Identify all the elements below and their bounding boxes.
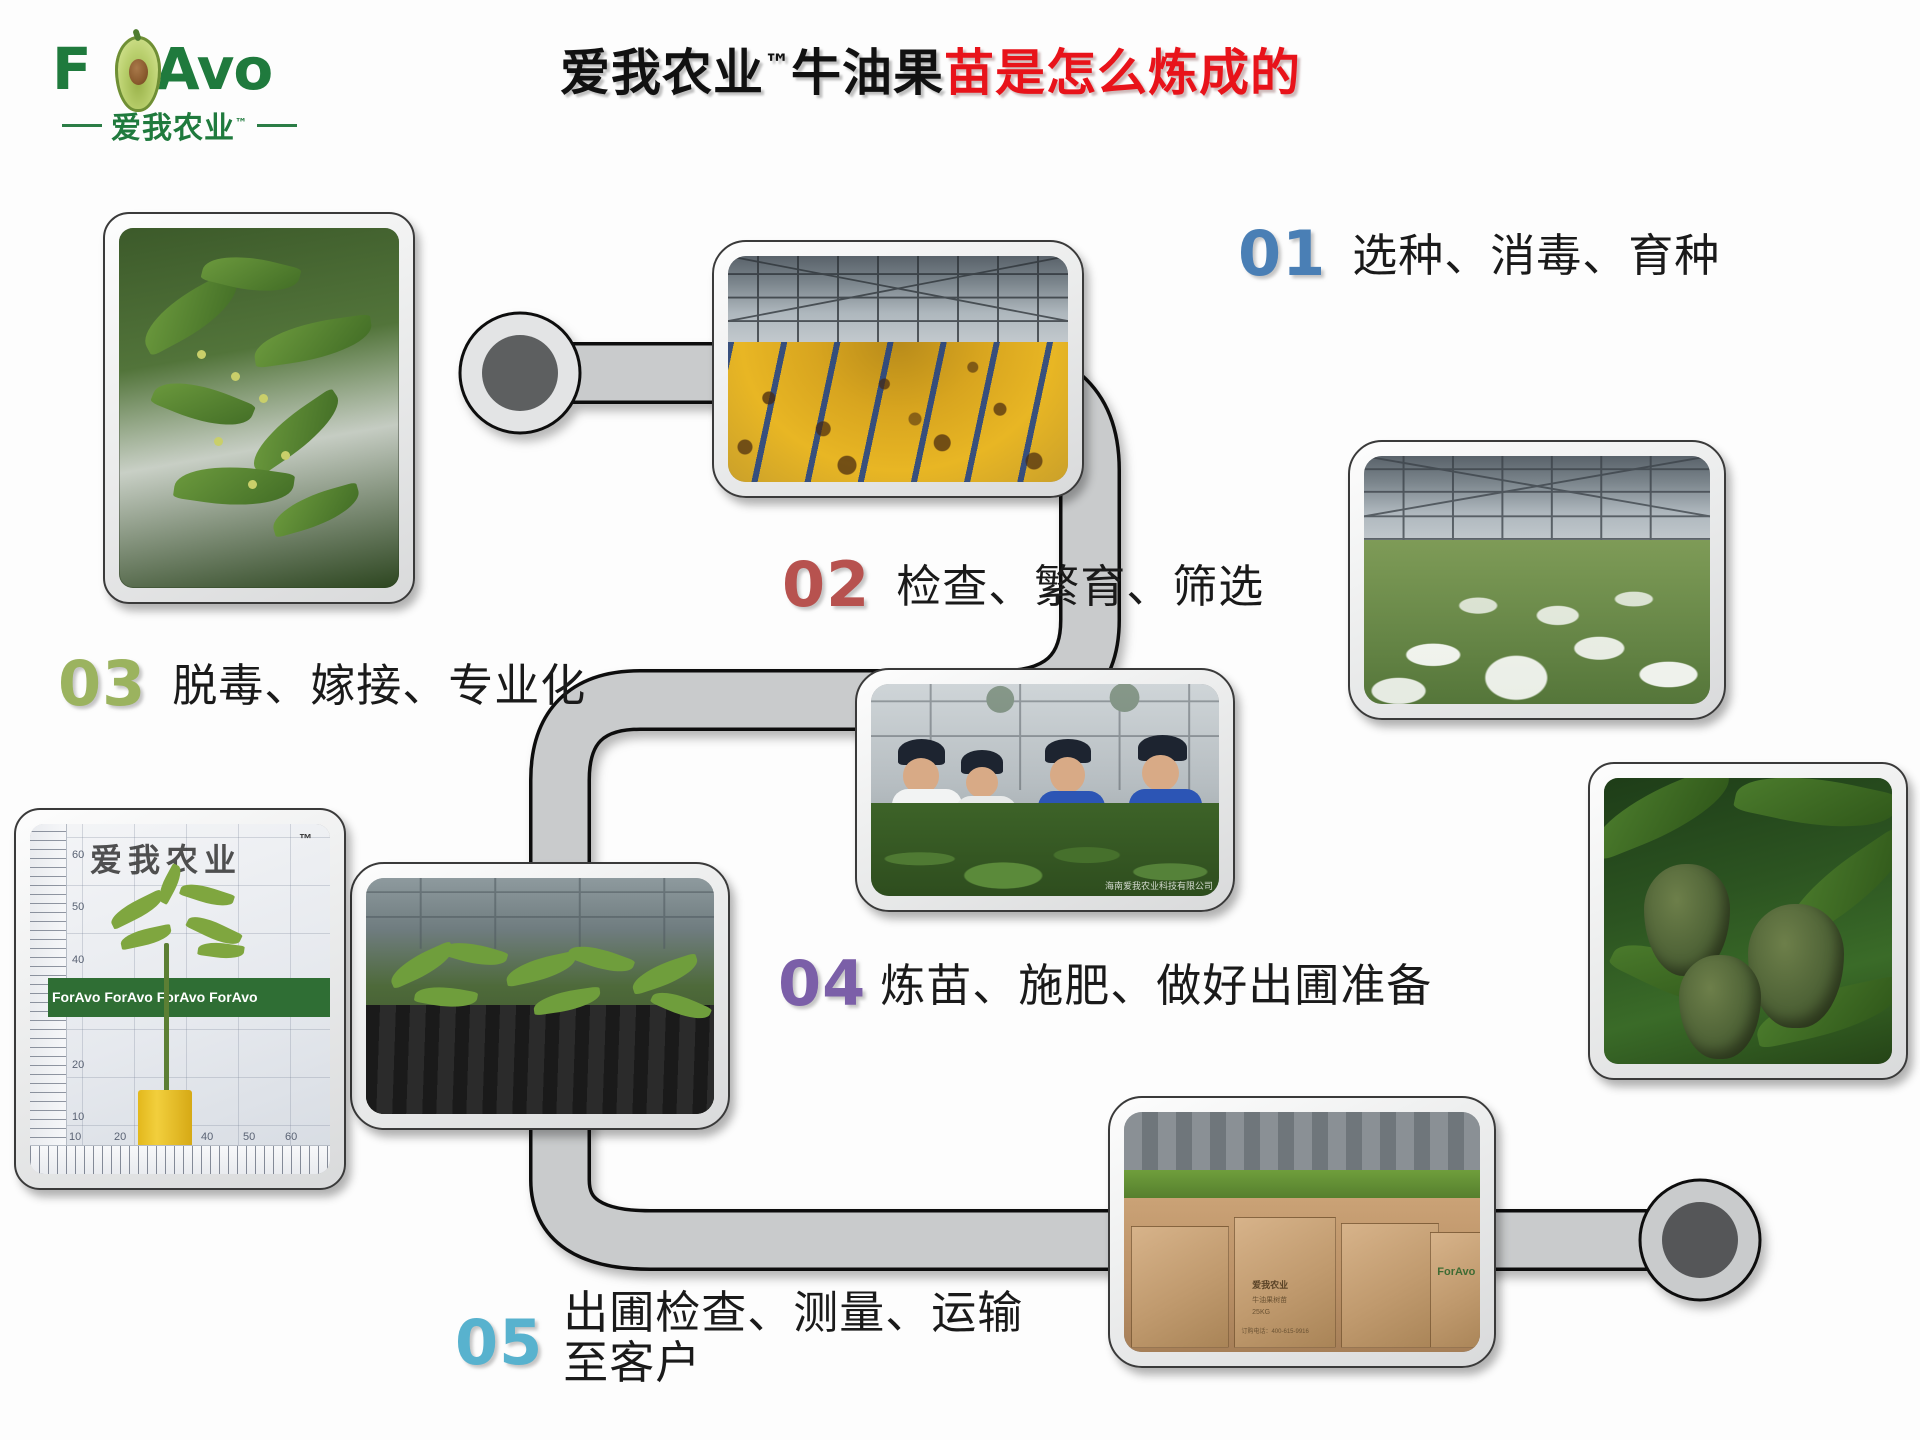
box-label-cn: 爱我农业 [1252,1278,1288,1291]
v-tick-50: 50 [72,901,84,913]
step-02-text: 检查、繁育、筛选 [896,556,1264,612]
photo-nursery-rows[interactable] [350,862,730,1130]
v-tick-10: 10 [72,1111,84,1123]
step-05-line-1: 出圃检查、测量、运输 [563,1288,1023,1338]
step-04-text: 炼苗、施肥、做好出圃准备 [880,955,1432,1011]
truss-lines-2 [1364,456,1710,550]
v-tick-60: 60 [72,849,84,861]
h-tick-50: 50 [243,1131,255,1143]
step-04-number: 04 [778,955,866,1014]
step-03-number: 03 [58,655,146,714]
box-label-phone: 订购电话：400-615-9916 [1241,1326,1308,1335]
logo-tm-mark: ™ [235,116,248,130]
step-03[interactable]: 03 脱毒、嫁接、专业化 [58,655,586,714]
carton-boxes: 爱我农业 牛油果树苗 25KG 订购电话：400-615-9916 ForAvo [1124,1198,1480,1352]
photo-grafted-seedlings[interactable] [1348,440,1726,720]
measure-watermark-cn: 爱我农业 [90,835,242,881]
seedling-stem [164,943,169,1097]
foravo-measure-band: ForAvo ForAvo ForAvo ForAvo [48,978,330,1017]
h-tick-20: 20 [114,1131,126,1143]
title-part-brand: 爱我农业 [560,44,764,102]
photo-watermark: 海南爱我农业科技有限公司 [1105,879,1213,892]
step-05-number: 05 [455,1314,543,1373]
h-tick-60: 60 [285,1131,297,1143]
truss-lines-4 [366,878,714,949]
logo-chinese-name: 爱我农业™ [111,103,248,147]
photo-shipping-boxes[interactable]: 爱我农业 牛油果树苗 25KG 订购电话：400-615-9916 ForAvo [1108,1096,1496,1368]
h-tick-10: 10 [69,1131,81,1143]
photo-measuring-board[interactable]: 爱我农业 ™ 60 50 40 30 20 10 ForAvo ForAvo F… [14,808,346,1190]
step-02[interactable]: 02 检查、繁育、筛选 [782,556,1264,615]
h-tick-40: 40 [201,1131,213,1143]
plastic-bag-seedlings [1364,540,1710,704]
step-01[interactable]: 01 选种、消毒、育种 [1238,225,1720,284]
title-part-highlight: 苗是怎么炼成的 [944,44,1301,102]
box-label-weight: 25KG [1252,1309,1270,1316]
box-label-brand: ForAvo [1437,1266,1475,1278]
photo-greenhouse-seed-trays[interactable] [712,240,1084,498]
step-05-line-2: 至客户 [563,1338,1023,1388]
page-title: 爱我农业™牛油果苗是怎么炼成的 [560,48,1301,98]
logo-wordmark: ForAvo [52,40,272,98]
photo-staff-inspection[interactable]: 海南爱我农业科技有限公司 [855,668,1235,912]
step-02-number: 02 [782,556,870,615]
brand-logo[interactable]: ForAvo 爱我农业™ [42,38,317,148]
v-tick-20: 20 [72,1059,84,1071]
step-05[interactable]: 05 出圃检查、测量、运输 至客户 [455,1288,1023,1389]
box-label-sub: 牛油果树苗 [1252,1295,1287,1305]
measure-watermark-tm: ™ [299,831,312,846]
horizontal-ruler [30,1145,330,1174]
step-01-text: 选种、消毒、育种 [1352,225,1720,281]
black-pot-rows [366,1005,714,1114]
logo-rule-right [257,124,297,127]
step-03-text: 脱毒、嫁接、专业化 [172,655,586,711]
title-part-product: 牛油果 [791,44,944,102]
step-05-text: 出圃检查、测量、运输 至客户 [563,1288,1023,1389]
v-tick-40: 40 [72,954,84,966]
infographic-canvas: ForAvo 爱我农业™ 爱我农业™牛油果苗是怎么炼成的 [0,0,1920,1440]
step-04[interactable]: 04 炼苗、施肥、做好出圃准备 [778,955,1432,1014]
seed-tray-rows [728,342,1068,482]
logo-subtitle: 爱我农业™ [42,108,317,142]
title-tm-mark: ™ [764,49,791,79]
photo-flowering-branch[interactable] [103,212,415,604]
step-01-number: 01 [1238,225,1326,284]
logo-rule-left [62,124,102,127]
photo-avocado-fruit[interactable] [1588,762,1908,1080]
truss-lines [728,256,1068,351]
